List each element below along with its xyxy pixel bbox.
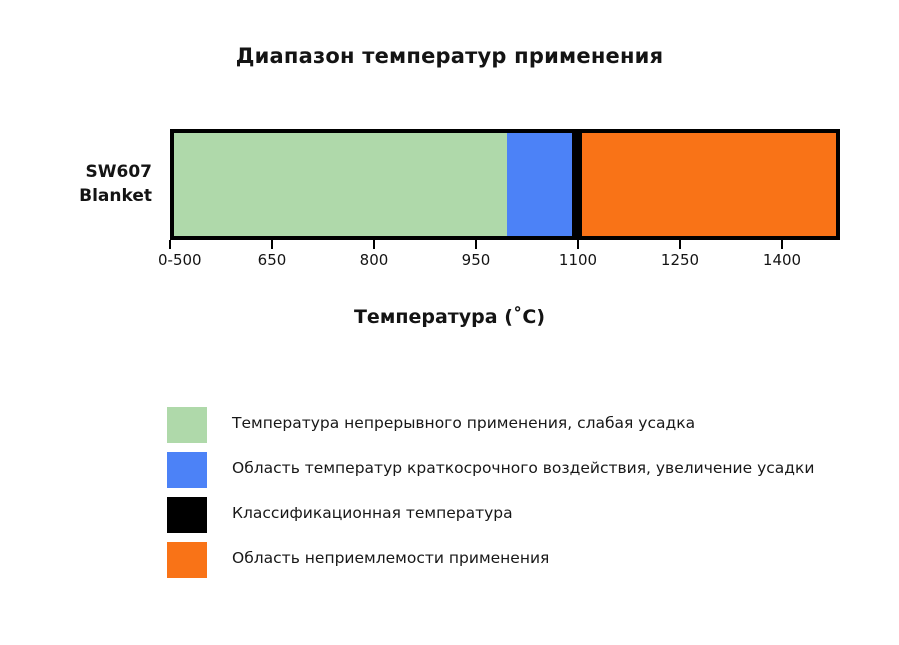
legend-swatch — [167, 497, 207, 533]
x-axis-title: Температура (˚C) — [0, 306, 899, 328]
legend-item: Температура непрерывного применения, сла… — [167, 407, 867, 452]
x-axis-tick-mark — [373, 240, 375, 249]
x-axis-tick-mark — [679, 240, 681, 249]
x-axis-tick-mark — [169, 240, 171, 249]
legend-swatch — [167, 407, 207, 443]
x-axis-tick-label: 950 — [462, 251, 491, 269]
bar-segment-unacceptable-use — [582, 133, 840, 236]
legend-item: Область температур краткосрочного воздей… — [167, 452, 867, 497]
x-axis-tick-mark — [271, 240, 273, 249]
x-axis-tick-label: 0-500 — [158, 251, 202, 269]
x-axis: 0-500650800950110012501400 — [0, 240, 899, 280]
bar-segment-classification-temperature — [572, 133, 582, 236]
legend-label: Область неприемлемости применения — [232, 549, 549, 567]
legend-item: Классификационная температура — [167, 497, 867, 542]
bar-segment-short-term-exposure — [507, 133, 572, 236]
bar-segment-continuous-use — [174, 133, 507, 236]
x-axis-tick-label: 1100 — [559, 251, 597, 269]
x-axis-tick-label: 650 — [258, 251, 287, 269]
legend-item: Область неприемлемости применения — [167, 542, 867, 587]
page-title: Диапазон температур применения — [0, 44, 899, 68]
category-label-line-2: Blanket — [0, 184, 152, 208]
category-label-line-1: SW607 — [0, 160, 152, 184]
plot-area — [170, 129, 840, 240]
category-axis-label: SW607 Blanket — [0, 160, 152, 208]
x-axis-tick-label: 1250 — [661, 251, 699, 269]
legend-label: Классификационная температура — [232, 504, 513, 522]
x-axis-tick-label: 1400 — [763, 251, 801, 269]
legend-label: Температура непрерывного применения, сла… — [232, 414, 695, 432]
legend-swatch — [167, 452, 207, 488]
x-axis-tick-label: 800 — [360, 251, 389, 269]
bar-track — [170, 129, 840, 240]
x-axis-tick-mark — [781, 240, 783, 249]
x-axis-tick-mark — [475, 240, 477, 249]
legend-swatch — [167, 542, 207, 578]
legend-label: Область температур краткосрочного воздей… — [232, 459, 814, 477]
chart-legend: Температура непрерывного применения, сла… — [167, 407, 867, 587]
x-axis-tick-mark — [577, 240, 579, 249]
